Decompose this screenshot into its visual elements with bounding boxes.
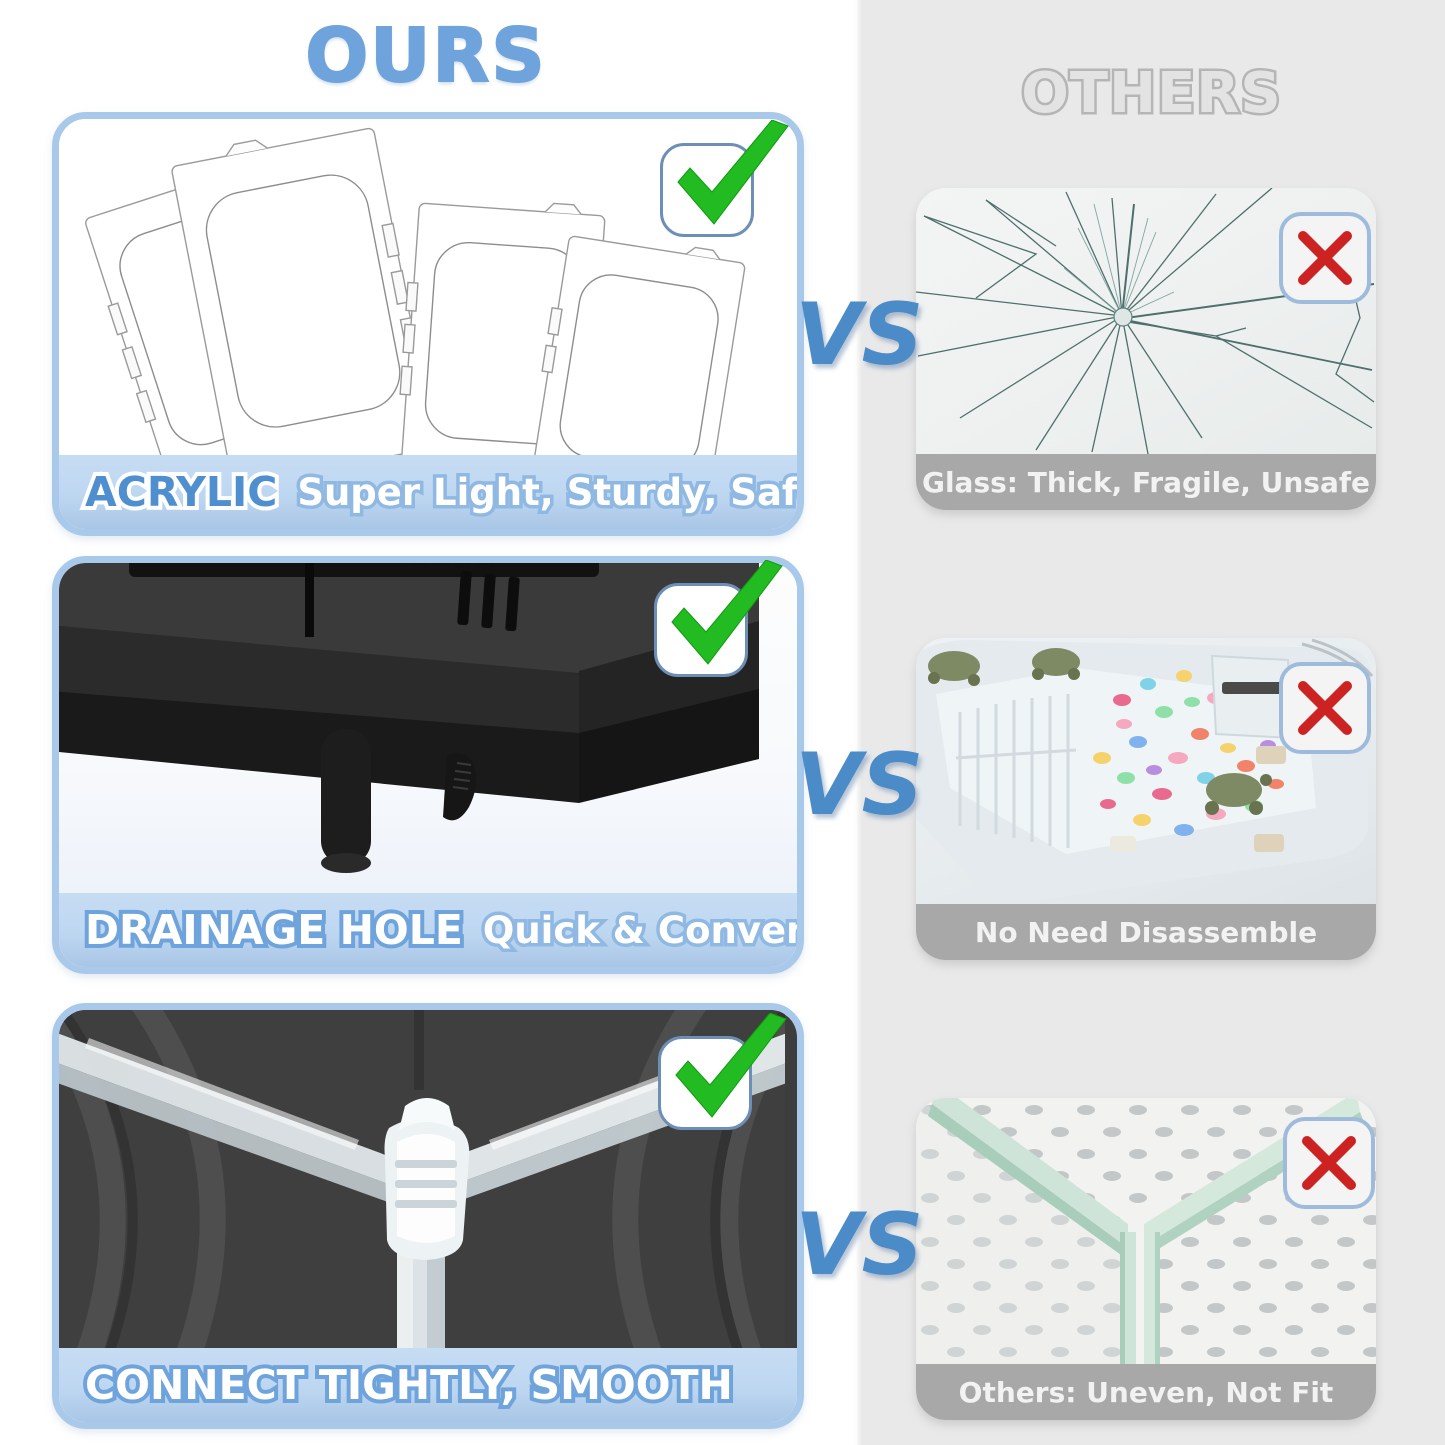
check-icon — [660, 120, 800, 245]
caption-soft-drainage: Quick & Convenient — [483, 909, 804, 952]
vs-mark-row3: VS — [795, 1202, 915, 1288]
ours-caption-drainage: DRAINAGE HOLE Quick & Convenient — [59, 893, 797, 967]
others-caption-uneven: Others: Uneven, Not Fit — [916, 1364, 1376, 1420]
caption-strong-connector: CONNECT TIGHTLY, SMOOTH — [85, 1361, 733, 1409]
caption-glass: Glass: Thick, Fragile, Unsafe — [922, 466, 1370, 499]
others-caption-disassemble: No Need Disassemble — [916, 904, 1376, 960]
cross-badge-row3 — [1283, 1117, 1375, 1209]
caption-uneven: Others: Uneven, Not Fit — [959, 1376, 1334, 1409]
check-badge-row1 — [660, 143, 754, 237]
others-caption-glass: Glass: Thick, Fragile, Unsafe — [916, 454, 1376, 510]
check-badge-row2 — [654, 583, 748, 677]
comparison-infographic: OURS OTHERS — [0, 0, 1445, 1445]
check-badge-row3 — [658, 1036, 752, 1130]
caption-strong-acrylic: ACRYLIC — [85, 468, 277, 516]
ours-caption-acrylic: ACRYLIC Super Light, Sturdy, Safe — [59, 455, 797, 529]
close-icon — [1296, 229, 1354, 287]
cross-badge-row1 — [1279, 212, 1371, 304]
caption-soft-acrylic: Super Light, Sturdy, Safe — [297, 471, 804, 514]
cross-badge-row2 — [1279, 662, 1371, 754]
close-icon — [1300, 1134, 1358, 1192]
caption-disassemble: No Need Disassemble — [975, 916, 1317, 949]
close-icon — [1296, 679, 1354, 737]
vs-mark-row2: VS — [795, 742, 915, 828]
others-heading: OTHERS — [858, 62, 1445, 126]
ours-heading: OURS — [0, 16, 852, 96]
ours-caption-connector: CONNECT TIGHTLY, SMOOTH — [59, 1348, 797, 1422]
check-icon — [658, 1013, 798, 1138]
check-icon — [654, 560, 794, 685]
caption-strong-drainage: DRAINAGE HOLE — [85, 906, 463, 954]
vs-mark-row1: VS — [795, 292, 915, 378]
